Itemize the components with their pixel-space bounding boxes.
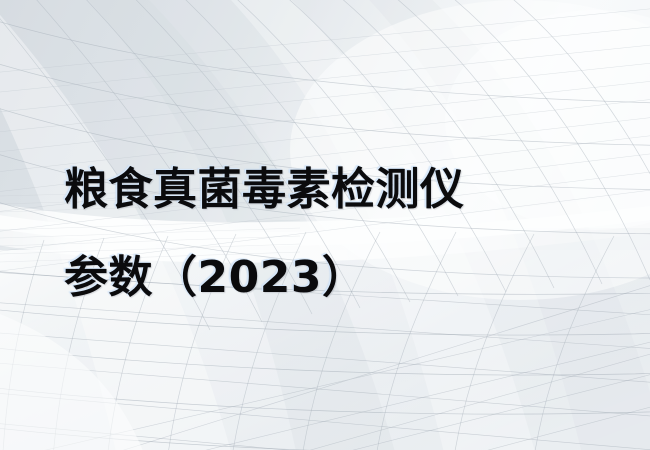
title-banner: 粮食真菌毒素检测仪 参数（2023） <box>0 0 650 450</box>
banner-title: 粮食真菌毒素检测仪 参数（2023） <box>64 146 584 322</box>
title-line-1: 粮食真菌毒素检测仪 <box>64 146 584 234</box>
title-line-2: 参数（2023） <box>64 234 584 322</box>
